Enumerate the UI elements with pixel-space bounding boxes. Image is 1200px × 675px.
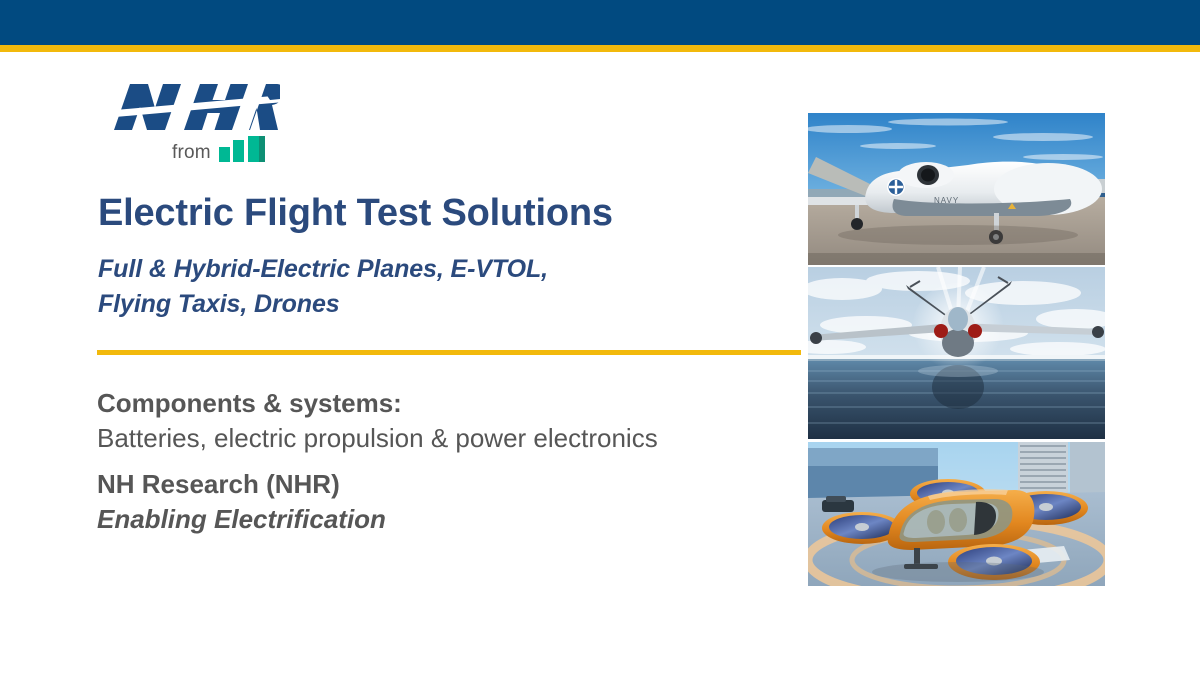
components-heading: Components & systems: [97,386,658,421]
from-ni-lockup: from [172,136,265,162]
photo-electric-aircraft-over-water [808,267,1105,439]
brand-logo: from [108,80,348,172]
svg-text:NAVY: NAVY [934,196,959,205]
slide-title: Electric Flight Test Solutions [98,192,613,235]
ni-logo-icon [219,136,265,162]
top-banner [0,0,1200,45]
top-accent-stripe [0,45,1200,52]
company-section: NH Research (NHR) Enabling Electrificati… [97,467,386,536]
components-section: Components & systems: Batteries, electri… [97,386,658,455]
company-tagline: Enabling Electrification [97,502,386,537]
company-name: NH Research (NHR) [97,467,386,502]
subtitle-line-1: Full & Hybrid-Electric Planes, E-VTOL, [98,252,548,287]
photo-military-surveillance-drone: NAVY [808,113,1105,265]
slide-subtitle: Full & Hybrid-Electric Planes, E-VTOL, F… [98,252,548,321]
photo-evtol-air-taxi [808,442,1105,586]
nhr-wordmark-icon [108,80,280,132]
components-detail: Batteries, electric propulsion & power e… [97,421,658,456]
subtitle-line-2: Flying Taxis, Drones [98,287,548,322]
gold-divider [97,350,801,355]
from-label: from [172,143,211,162]
